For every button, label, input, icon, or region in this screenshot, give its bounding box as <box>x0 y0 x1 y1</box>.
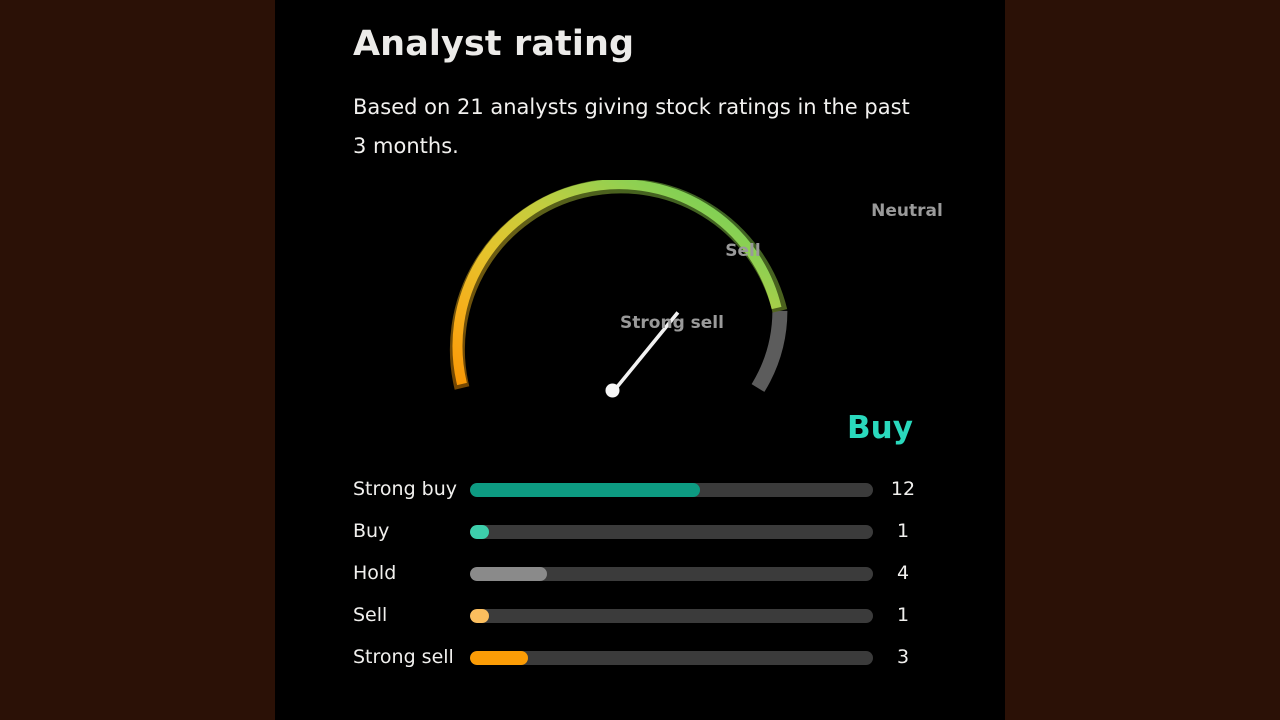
row-label-strong-sell: Strong sell <box>353 646 454 668</box>
table-row: Sell 1 <box>353 596 933 638</box>
card-subtitle: Based on 21 analysts giving stock rating… <box>353 88 913 166</box>
table-row: Hold 4 <box>353 554 933 596</box>
gauge-segment-strong-buy <box>758 311 780 388</box>
row-count-hold: 4 <box>883 562 923 584</box>
row-fill-strong-sell <box>470 651 528 665</box>
needle-hub <box>606 384 620 398</box>
row-count-buy: 1 <box>883 520 923 542</box>
row-fill-hold <box>470 567 547 581</box>
gauge-label-buy: Buy <box>997 238 1005 264</box>
row-label-hold: Hold <box>353 562 396 584</box>
gauge-label-neutral: Neutral <box>847 198 967 224</box>
table-row: Strong sell 3 <box>353 638 933 680</box>
row-fill-buy <box>470 525 489 539</box>
row-label-buy: Buy <box>353 520 389 542</box>
gauge-value-label: Buy <box>790 410 970 446</box>
gauge-label-sell: Sell <box>703 238 783 264</box>
table-row: Buy 1 <box>353 512 933 554</box>
gauge-arc-shadow <box>457 186 780 388</box>
table-row: Strong buy 12 <box>353 470 933 512</box>
row-track-sell <box>470 609 873 623</box>
row-count-sell: 1 <box>883 604 923 626</box>
row-track-buy <box>470 525 873 539</box>
gauge-arc-active <box>457 184 776 384</box>
analyst-rating-card: Analyst rating Based on 21 analysts givi… <box>275 0 1005 720</box>
rating-distribution-list: Strong buy 12 Buy 1 Hold 4 <box>353 470 933 680</box>
analyst-rating-gauge: Strong sell Sell Neutral Buy Strong buy … <box>335 180 945 450</box>
row-fill-sell <box>470 609 489 623</box>
row-label-sell: Sell <box>353 604 387 626</box>
row-count-strong-buy: 12 <box>883 478 923 500</box>
row-label-strong-buy: Strong buy <box>353 478 457 500</box>
page-title: Analyst rating <box>353 24 634 64</box>
row-track-strong-sell <box>470 651 873 665</box>
row-track-hold <box>470 567 873 581</box>
row-fill-strong-buy <box>470 483 700 497</box>
gauge-label-strong-sell: Strong sell <box>617 310 727 336</box>
page-root: Analyst rating Based on 21 analysts givi… <box>0 0 1280 720</box>
row-count-strong-sell: 3 <box>883 646 923 668</box>
row-track-strong-buy <box>470 483 873 497</box>
